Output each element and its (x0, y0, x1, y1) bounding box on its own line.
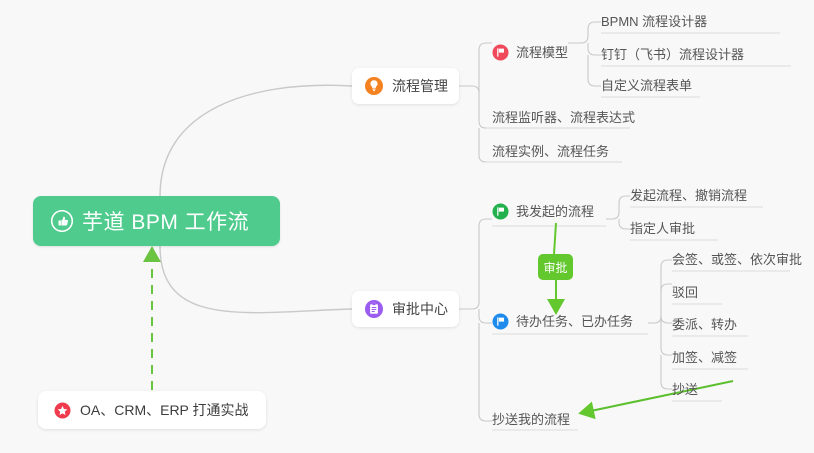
leaf-assignee-approval[interactable]: 指定人审批 (630, 221, 695, 237)
leaf-start-cancel-process[interactable]: 发起流程、撤销流程 (630, 188, 747, 204)
integration-node[interactable]: OA、CRM、ERP 打通实战 (38, 391, 266, 429)
wire-approval-center-trunk2 (479, 323, 492, 421)
star-icon (54, 402, 71, 419)
flag-icon (492, 44, 509, 61)
wire-todo-trunk1 (661, 284, 672, 323)
leaf-process-instance-task[interactable]: 流程实例、流程任务 (492, 144, 609, 160)
root-node-label: 芋道 BPM 工作流 (82, 206, 249, 236)
branch-node-process-management[interactable]: 流程管理 (352, 68, 459, 104)
branch-node-approval-center[interactable]: 审批中心 (352, 291, 459, 327)
wire-approval-center-bracket (459, 219, 492, 309)
wire-todo-trunk3 (661, 323, 672, 355)
wire-initiated-bracket (606, 196, 630, 219)
leaf-add-remove-sign[interactable]: 加签、减签 (672, 350, 737, 366)
leaf-dingtalk-feishu-designer[interactable]: 钉钉（飞书）流程设计器 (601, 47, 744, 63)
wire-process-model-bracket (568, 22, 601, 43)
wire-process-model-trunk (588, 43, 601, 55)
leaf-process-model[interactable]: 流程模型 (492, 44, 568, 61)
leaf-reject[interactable]: 驳回 (672, 285, 698, 301)
wire-todo-trunk2 (661, 316, 672, 323)
leaf-dingtalk-feishu-designer-label: 钉钉（飞书）流程设计器 (601, 47, 744, 62)
leaf-process-listener-expression[interactable]: 流程监听器、流程表达式 (492, 110, 635, 126)
leaf-custom-process-form[interactable]: 自定义流程表单 (601, 78, 692, 94)
branch-node-process-management-label: 流程管理 (392, 76, 448, 96)
flag-icon (492, 203, 509, 220)
annotation-arrow-cc (586, 381, 733, 412)
leaf-todo-done-tasks[interactable]: 待办任务、已办任务 (492, 313, 633, 330)
leaf-process-instance-task-label: 流程实例、流程任务 (492, 144, 609, 159)
branch-node-approval-center-label: 审批中心 (392, 299, 448, 319)
thumbs-up-icon (51, 210, 73, 232)
leaf-add-remove-sign-label: 加签、减签 (672, 350, 737, 365)
leaf-bpmn-designer[interactable]: BPMN 流程设计器 (601, 14, 707, 30)
wire-process-management-bracket (459, 43, 492, 93)
annotation-arrow-approval-upper (554, 223, 556, 254)
leaf-process-model-label: 流程模型 (516, 45, 568, 61)
leaf-delegate-transfer-label: 委派、转办 (672, 317, 737, 332)
leaf-my-initiated-process[interactable]: 我发起的流程 (492, 203, 594, 220)
leaf-countersign-or-sequential-label: 会签、或签、依次审批 (672, 252, 802, 267)
leaf-reject-label: 驳回 (672, 285, 698, 300)
leaf-bpmn-designer-label: BPMN 流程设计器 (601, 14, 707, 29)
integration-node-label: OA、CRM、ERP 打通实战 (80, 400, 249, 420)
wire-root-to-process-management (160, 85, 352, 196)
lightbulb-icon (364, 76, 384, 96)
leaf-countersign-or-sequential[interactable]: 会签、或签、依次审批 (672, 252, 802, 268)
wire-root-to-approval-center (160, 246, 352, 313)
leaf-assignee-approval-label: 指定人审批 (630, 221, 695, 236)
wire-todo-trunk4 (661, 355, 672, 389)
annotation-badge-approval: 审批 (538, 254, 573, 280)
wire-approval-center-trunk (479, 309, 492, 323)
wire-initiated-trunk (619, 219, 630, 229)
leaf-cc-label: 抄送 (672, 382, 698, 397)
leaf-todo-done-tasks-label: 待办任务、已办任务 (516, 314, 633, 330)
leaf-delegate-transfer[interactable]: 委派、转办 (672, 317, 737, 333)
clipboard-icon (364, 299, 384, 319)
mindmap-canvas: 芋道 BPM 工作流 流程管理 流程模型 BPMN 流程设计器 钉钉（飞书）流程 (0, 0, 814, 453)
leaf-cc[interactable]: 抄送 (672, 382, 698, 398)
wire-process-model-trunk2 (588, 55, 601, 86)
leaf-my-initiated-process-label: 我发起的流程 (516, 204, 594, 220)
leaf-custom-process-form-label: 自定义流程表单 (601, 78, 692, 93)
leaf-cc-to-me-process[interactable]: 抄送我的流程 (492, 412, 570, 428)
root-node[interactable]: 芋道 BPM 工作流 (33, 196, 280, 246)
wire-todo-bracket (648, 260, 672, 323)
leaf-start-cancel-process-label: 发起流程、撤销流程 (630, 188, 747, 203)
leaf-process-listener-expression-label: 流程监听器、流程表达式 (492, 110, 635, 125)
leaf-cc-to-me-process-label: 抄送我的流程 (492, 412, 570, 427)
annotation-badge-approval-label: 审批 (543, 259, 567, 276)
flag-icon (492, 313, 509, 330)
